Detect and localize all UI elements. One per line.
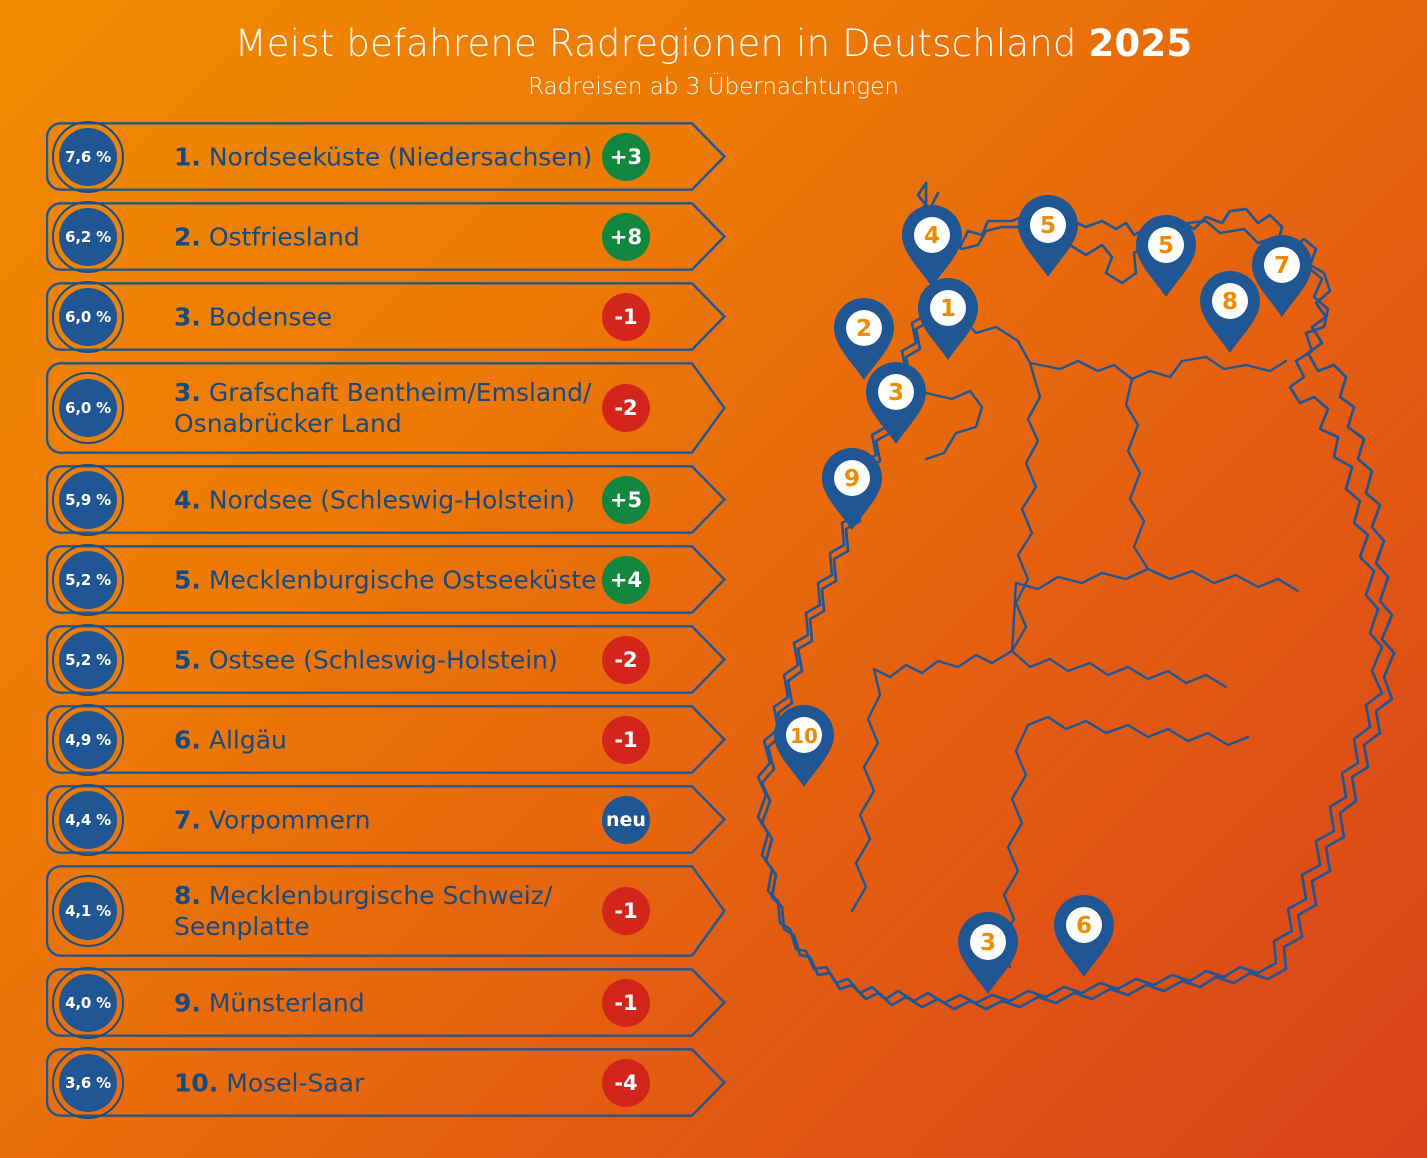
percent-value: 7,6 % <box>65 148 111 166</box>
region-name-line2: Seenplatte <box>174 912 310 941</box>
map-pin[interactable]: 9 <box>822 448 882 530</box>
region-name: Allgäu <box>209 725 287 754</box>
map-pin[interactable]: 3 <box>958 912 1018 994</box>
change-badge-up: +5 <box>602 476 650 524</box>
ranking-row[interactable]: 7,6 %1. Nordseeküste (Niedersachsen)+3 <box>46 122 726 191</box>
change-badge-up: +8 <box>602 213 650 261</box>
map-pin[interactable]: 7 <box>1252 235 1312 317</box>
region-label: 3. Bodensee <box>174 301 614 332</box>
region-name: Nordsee (Schleswig-Holstein) <box>209 485 575 514</box>
change-badge-down: -1 <box>602 887 650 935</box>
pin-number: 5 <box>1040 213 1056 239</box>
change-badge-down: -2 <box>602 636 650 684</box>
region-rank: 1. <box>174 142 201 171</box>
region-label: 5. Ostsee (Schleswig-Holstein) <box>174 644 614 675</box>
pin-number: 7 <box>1274 253 1290 279</box>
ranking-row[interactable]: 6,0 %3. Grafschaft Bentheim/Emsland/Osna… <box>46 362 726 454</box>
change-badge-down: -1 <box>602 293 650 341</box>
region-rank: 3. <box>174 302 201 331</box>
ranking-list: 7,6 %1. Nordseeküste (Niedersachsen)+36,… <box>46 122 726 1128</box>
percent-value: 6,2 % <box>65 228 111 246</box>
percent-badge-disc: 4,9 % <box>59 711 117 769</box>
region-rank: 9. <box>174 988 201 1017</box>
ranking-row[interactable]: 4,4 %7. Vorpommernneu <box>46 785 726 854</box>
region-name: Mosel-Saar <box>226 1068 364 1097</box>
pin-number: 6 <box>1076 913 1092 939</box>
region-name: Bodensee <box>209 302 332 331</box>
percent-value: 4,9 % <box>65 731 111 749</box>
region-name: Vorpommern <box>209 805 371 834</box>
percent-badge-disc: 7,6 % <box>59 128 117 186</box>
percent-badge-disc: 4,4 % <box>59 791 117 849</box>
region-name: Mecklenburgische Ostseeküste <box>209 565 597 594</box>
region-rank: 2. <box>174 222 201 251</box>
region-name: Münsterland <box>209 988 365 1017</box>
title-year: 2025 <box>1089 22 1193 65</box>
region-label: 9. Münsterland <box>174 987 614 1018</box>
pin-number: 3 <box>980 930 996 956</box>
percent-badge-disc: 5,2 % <box>59 551 117 609</box>
pin-number: 8 <box>1222 289 1238 315</box>
title-main-text: Meist befahrene Radregionen in Deutschla… <box>235 22 1089 65</box>
change-badge-down: -4 <box>602 1059 650 1107</box>
region-rank: 3. <box>174 378 201 407</box>
percent-badge: 5,2 % <box>52 624 124 696</box>
region-name: Ostsee (Schleswig-Holstein) <box>209 645 558 674</box>
percent-value: 3,6 % <box>65 1074 111 1092</box>
change-badge-down: -2 <box>602 384 650 432</box>
region-rank: 7. <box>174 805 201 834</box>
region-label: 4. Nordsee (Schleswig-Holstein) <box>174 484 614 515</box>
ranking-row[interactable]: 4,9 %6. Allgäu-1 <box>46 705 726 774</box>
pin-number: 10 <box>790 724 818 748</box>
map-pin[interactable]: 5 <box>1018 195 1078 277</box>
region-label: 3. Grafschaft Bentheim/Emsland/Osnabrück… <box>174 377 614 439</box>
ranking-row[interactable]: 6,2 %2. Ostfriesland+8 <box>46 202 726 271</box>
map-pin[interactable]: 3 <box>866 362 926 444</box>
percent-value: 6,0 % <box>65 399 111 417</box>
germany-map: 4557812391036 <box>730 165 1420 1085</box>
percent-badge-disc: 6,0 % <box>59 379 117 437</box>
region-label: 5. Mecklenburgische Ostseeküste <box>174 564 614 595</box>
region-rank: 8. <box>174 881 201 910</box>
percent-badge: 4,4 % <box>52 784 124 856</box>
map-pin[interactable]: 1 <box>918 278 978 360</box>
page-subtitle: Radreisen ab 3 Übernachtungen <box>0 74 1427 100</box>
region-name: Nordseeküste (Niedersachsen) <box>209 142 592 171</box>
percent-value: 5,9 % <box>65 491 111 509</box>
ranking-row[interactable]: 4,0 %9. Münsterland-1 <box>46 968 726 1037</box>
percent-badge: 3,6 % <box>52 1047 124 1119</box>
percent-badge: 6,2 % <box>52 201 124 273</box>
ranking-row[interactable]: 4,1 %8. Mecklenburgische Schweiz/Seenpla… <box>46 865 726 957</box>
pin-number: 3 <box>888 380 904 406</box>
percent-badge: 4,0 % <box>52 967 124 1039</box>
pin-number: 4 <box>924 223 940 249</box>
percent-badge: 4,1 % <box>52 875 124 947</box>
ranking-row[interactable]: 5,2 %5. Mecklenburgische Ostseeküste+4 <box>46 545 726 614</box>
percent-badge-disc: 6,0 % <box>59 288 117 346</box>
percent-badge: 6,0 % <box>52 281 124 353</box>
pin-number: 5 <box>1158 233 1174 259</box>
change-badge-up: +3 <box>602 133 650 181</box>
percent-value: 5,2 % <box>65 571 111 589</box>
percent-badge-disc: 5,2 % <box>59 631 117 689</box>
percent-value: 4,0 % <box>65 994 111 1012</box>
percent-badge: 7,6 % <box>52 121 124 193</box>
map-pin[interactable]: 5 <box>1136 215 1196 297</box>
region-label: 6. Allgäu <box>174 724 614 755</box>
percent-value: 5,2 % <box>65 651 111 669</box>
region-rank: 5. <box>174 565 201 594</box>
percent-badge: 5,2 % <box>52 544 124 616</box>
ranking-row[interactable]: 5,2 %5. Ostsee (Schleswig-Holstein)-2 <box>46 625 726 694</box>
ranking-row[interactable]: 6,0 %3. Bodensee-1 <box>46 282 726 351</box>
percent-badge: 5,9 % <box>52 464 124 536</box>
percent-badge: 6,0 % <box>52 372 124 444</box>
map-pin[interactable]: 8 <box>1200 271 1260 353</box>
map-pin-group: 4557812391036 <box>774 195 1312 994</box>
percent-value: 6,0 % <box>65 308 111 326</box>
region-name-line2: Osnabrücker Land <box>174 409 402 438</box>
change-badge-down: -1 <box>602 716 650 764</box>
percent-badge: 4,9 % <box>52 704 124 776</box>
ranking-row[interactable]: 3,6 %10. Mosel-Saar-4 <box>46 1048 726 1117</box>
region-name: Grafschaft Bentheim/Emsland/ <box>209 378 592 407</box>
change-badge-up: +4 <box>602 556 650 604</box>
region-rank: 10. <box>174 1068 218 1097</box>
region-rank: 4. <box>174 485 201 514</box>
percent-badge-disc: 4,1 % <box>59 882 117 940</box>
region-name: Mecklenburgische Schweiz/ <box>209 881 552 910</box>
percent-badge-disc: 6,2 % <box>59 208 117 266</box>
region-name: Ostfriesland <box>209 222 360 251</box>
pin-number: 9 <box>844 466 860 492</box>
percent-badge-disc: 4,0 % <box>59 974 117 1032</box>
map-pin[interactable]: 10 <box>774 705 834 787</box>
percent-value: 4,1 % <box>65 902 111 920</box>
pin-number: 1 <box>940 296 956 322</box>
change-badge-down: -1 <box>602 979 650 1027</box>
ranking-row[interactable]: 5,9 %4. Nordsee (Schleswig-Holstein)+5 <box>46 465 726 534</box>
map-pin[interactable]: 4 <box>902 205 962 287</box>
region-label: 10. Mosel-Saar <box>174 1067 614 1098</box>
region-label: 7. Vorpommern <box>174 804 614 835</box>
change-badge-new: neu <box>602 796 650 844</box>
page-title: Meist befahrene Radregionen in Deutschla… <box>0 22 1427 65</box>
region-label: 1. Nordseeküste (Niedersachsen) <box>174 141 614 172</box>
percent-value: 4,4 % <box>65 811 111 829</box>
percent-badge-disc: 5,9 % <box>59 471 117 529</box>
region-label: 2. Ostfriesland <box>174 221 614 252</box>
region-rank: 6. <box>174 725 201 754</box>
region-label: 8. Mecklenburgische Schweiz/Seenplatte <box>174 880 614 942</box>
region-rank: 5. <box>174 645 201 674</box>
pin-number: 2 <box>856 316 872 342</box>
map-pin[interactable]: 6 <box>1054 895 1114 977</box>
percent-badge-disc: 3,6 % <box>59 1054 117 1112</box>
